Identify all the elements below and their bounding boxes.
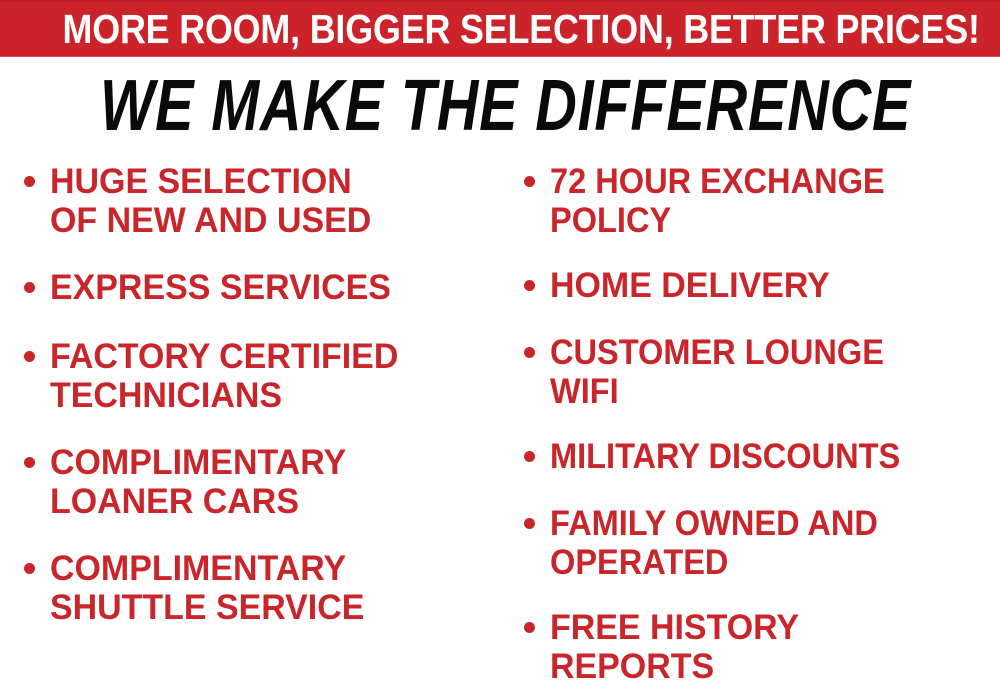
list-item: HOME DELIVERY <box>518 266 1000 305</box>
list-item: FACTORY CERTIFIED TECHNICIANS <box>18 337 496 415</box>
list-item-line: HUGE SELECTION <box>50 162 483 201</box>
bullet-dot-icon <box>524 280 535 291</box>
promo-banner-text: MORE ROOM, BIGGER SELECTION, BETTER PRIC… <box>63 2 938 57</box>
top-promo-banner: MORE ROOM, BIGGER SELECTION, BETTER PRIC… <box>0 0 1000 57</box>
list-item-line: FREE HISTORY <box>550 608 987 647</box>
list-item-line: OPERATED <box>550 543 969 582</box>
list-item-line: COMPLIMENTARY <box>50 549 483 588</box>
list-item: MILITARY DISCOUNTS <box>518 437 1000 476</box>
list-item-line: FAMILY OWNED AND <box>550 504 969 543</box>
list-item-line: TECHNICIANS <box>50 376 483 415</box>
list-item: CUSTOMER LOUNGE WIFI <box>518 333 1000 411</box>
list-item: EXPRESS SERVICES <box>18 268 496 307</box>
bullet-dot-icon <box>524 622 535 633</box>
list-item: COMPLIMENTARY LOANER CARS <box>18 443 496 521</box>
list-item: COMPLIMENTARY SHUTTLE SERVICE <box>18 549 496 627</box>
list-item: 72 HOUR EXCHANGE POLICY <box>518 162 1000 240</box>
list-item-line: LOANER CARS <box>50 482 483 521</box>
bullet-dot-icon <box>524 176 535 187</box>
list-item-line: EXPRESS SERVICES <box>50 268 483 307</box>
list-item-line: POLICY <box>550 201 969 240</box>
list-item-line: MILITARY DISCOUNTS <box>550 437 969 476</box>
list-item-line: REPORTS <box>550 647 987 686</box>
bullet-dot-icon <box>24 176 35 187</box>
bullet-dot-icon <box>24 282 35 293</box>
bullet-dot-icon <box>524 347 535 358</box>
list-item: FAMILY OWNED AND OPERATED <box>518 504 1000 582</box>
list-item-line: HOME DELIVERY <box>550 266 987 305</box>
bullet-dot-icon <box>24 563 35 574</box>
bullet-dot-icon <box>524 518 535 529</box>
list-item-line: FACTORY CERTIFIED <box>50 337 483 376</box>
list-item-line: CUSTOMER LOUNGE <box>550 333 969 372</box>
advertisement-poster: MORE ROOM, BIGGER SELECTION, BETTER PRIC… <box>0 0 1000 694</box>
benefits-column-right: 72 HOUR EXCHANGE POLICY HOME DELIVERY CU… <box>518 162 1000 694</box>
page-title: WE MAKE THE DIFFERENCE <box>100 72 900 140</box>
benefits-column-left: HUGE SELECTION OF NEW AND USED EXPRESS S… <box>18 162 496 655</box>
bullet-dot-icon <box>24 457 35 468</box>
list-item: FREE HISTORY REPORTS <box>518 608 1000 686</box>
list-item: HUGE SELECTION OF NEW AND USED <box>18 162 496 240</box>
list-item-line: OF NEW AND USED <box>50 201 483 240</box>
bullet-dot-icon <box>24 351 35 362</box>
bullet-dot-icon <box>524 451 535 462</box>
list-item-line: WIFI <box>550 372 969 411</box>
list-item-line: SHUTTLE SERVICE <box>50 588 483 627</box>
list-item-line: COMPLIMENTARY <box>50 443 483 482</box>
list-item-line: 72 HOUR EXCHANGE <box>550 162 969 201</box>
